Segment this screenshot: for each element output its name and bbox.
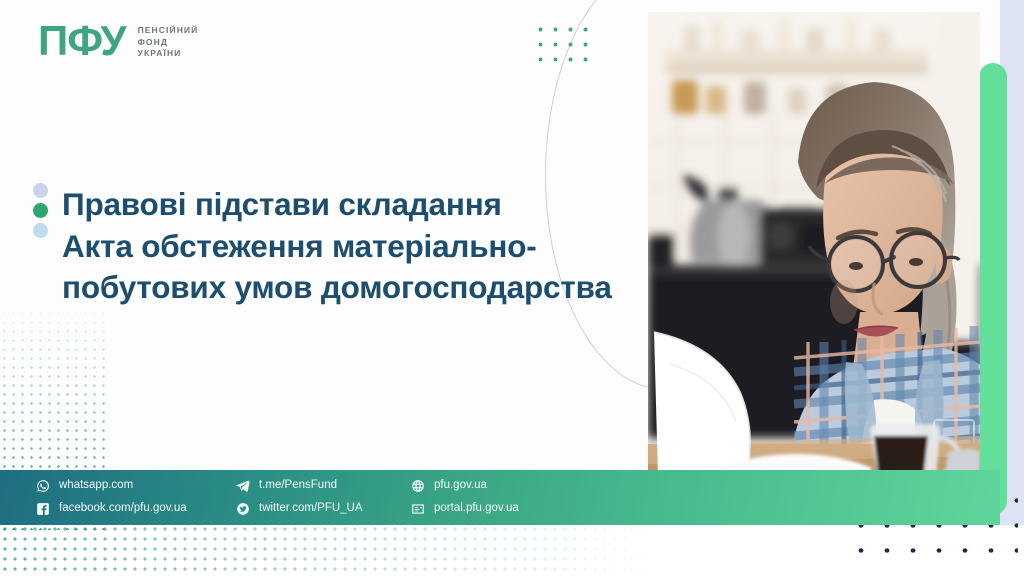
contact-telegram[interactable]: t.me/PensFund bbox=[236, 479, 411, 493]
twitter-icon bbox=[236, 502, 250, 516]
bullet-dot-green bbox=[33, 203, 48, 218]
logo-line-1: Пенсійний bbox=[138, 26, 199, 35]
contact-website[interactable]: pfu.gov.ua bbox=[411, 479, 1000, 493]
contact-whatsapp-label: whatsapp.com bbox=[59, 480, 133, 492]
contact-whatsapp[interactable]: whatsapp.com bbox=[36, 479, 236, 493]
headline-line-1: Правові підстави складання bbox=[62, 184, 662, 226]
portal-icon bbox=[411, 502, 425, 516]
contact-twitter-label: twitter.com/PFU_UA bbox=[259, 503, 363, 515]
green-accent-bar-right bbox=[979, 63, 1007, 515]
bullet-dot-blue bbox=[33, 223, 48, 238]
contact-portal-label: portal.pfu.gov.ua bbox=[434, 503, 519, 515]
headline-bullet-dots bbox=[33, 183, 48, 238]
contact-twitter[interactable]: twitter.com/PFU_UA bbox=[236, 502, 411, 516]
pfu-logo: ПФУ Пенсійний Фонд України bbox=[38, 20, 198, 62]
headline-line-3: побутових умов домогосподарства bbox=[62, 267, 662, 309]
contact-website-label: pfu.gov.ua bbox=[434, 480, 487, 492]
slide-canvas: ПФУ Пенсійний Фонд України Правові підст… bbox=[0, 0, 1024, 576]
contact-facebook-label: facebook.com/pfu.gov.ua bbox=[59, 503, 187, 515]
globe-icon bbox=[411, 479, 425, 493]
footer-contact-bar: whatsapp.com t.me/PensFund pfu.gov.ua fa… bbox=[0, 470, 1000, 525]
contact-telegram-label: t.me/PensFund bbox=[259, 480, 337, 492]
telegram-icon bbox=[236, 479, 250, 493]
contact-portal[interactable]: portal.pfu.gov.ua bbox=[411, 502, 1000, 516]
whatsapp-icon bbox=[36, 479, 50, 493]
facebook-icon bbox=[36, 502, 50, 516]
logo-wordmark: Пенсійний Фонд України bbox=[138, 24, 199, 59]
page-title: Правові підстави складання Акта обстежен… bbox=[62, 184, 662, 309]
logo-line-2: Фонд bbox=[138, 38, 199, 47]
bullet-dot-lavender bbox=[33, 183, 48, 198]
contact-facebook[interactable]: facebook.com/pfu.gov.ua bbox=[36, 502, 236, 516]
logo-mark-pfu: ПФУ bbox=[38, 20, 126, 62]
photo-senior-woman-reading bbox=[648, 12, 980, 512]
headline-line-2: Акта обстеження матеріально- bbox=[62, 226, 662, 268]
background-bottom-strip bbox=[0, 525, 1024, 576]
logo-line-3: України bbox=[138, 49, 199, 58]
